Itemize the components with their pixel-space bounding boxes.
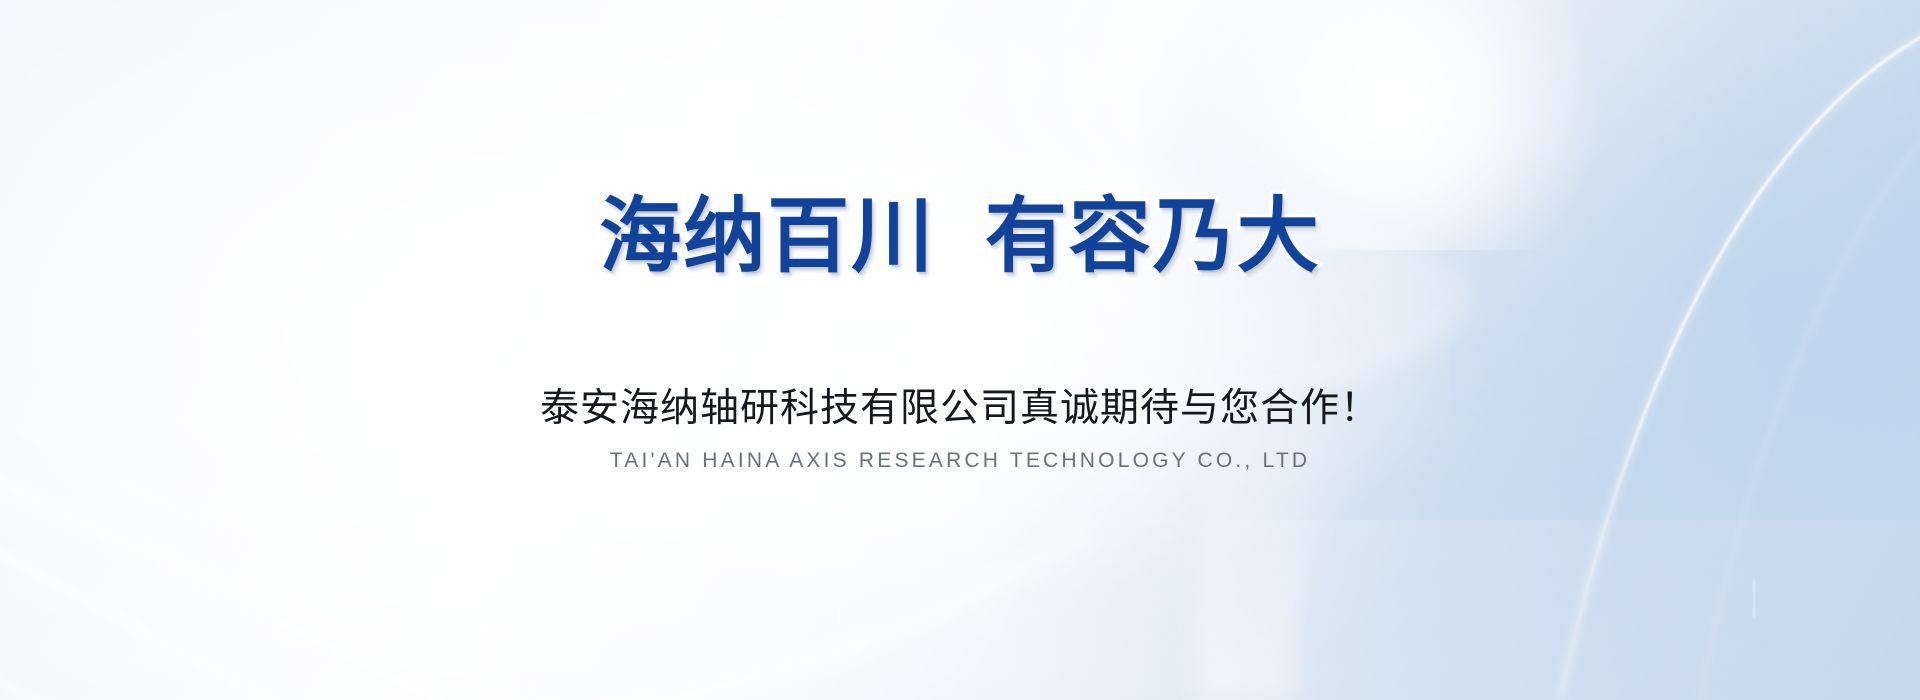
banner-subtitle-chinese: 泰安海纳轴研科技有限公司真诚期待与您合作！: [0, 386, 1920, 432]
banner-content: 海纳百川 有容乃大 泰安海纳轴研科技有限公司真诚期待与您合作！ TAI'AN H…: [0, 0, 1920, 700]
hero-banner: 海纳百川 有容乃大 泰安海纳轴研科技有限公司真诚期待与您合作！ TAI'AN H…: [0, 0, 1920, 700]
banner-subtitle-english: TAI'AN HAINA AXIS RESEARCH TECHNOLOGY CO…: [0, 448, 1920, 473]
banner-headline: 海纳百川 有容乃大: [0, 196, 1920, 278]
